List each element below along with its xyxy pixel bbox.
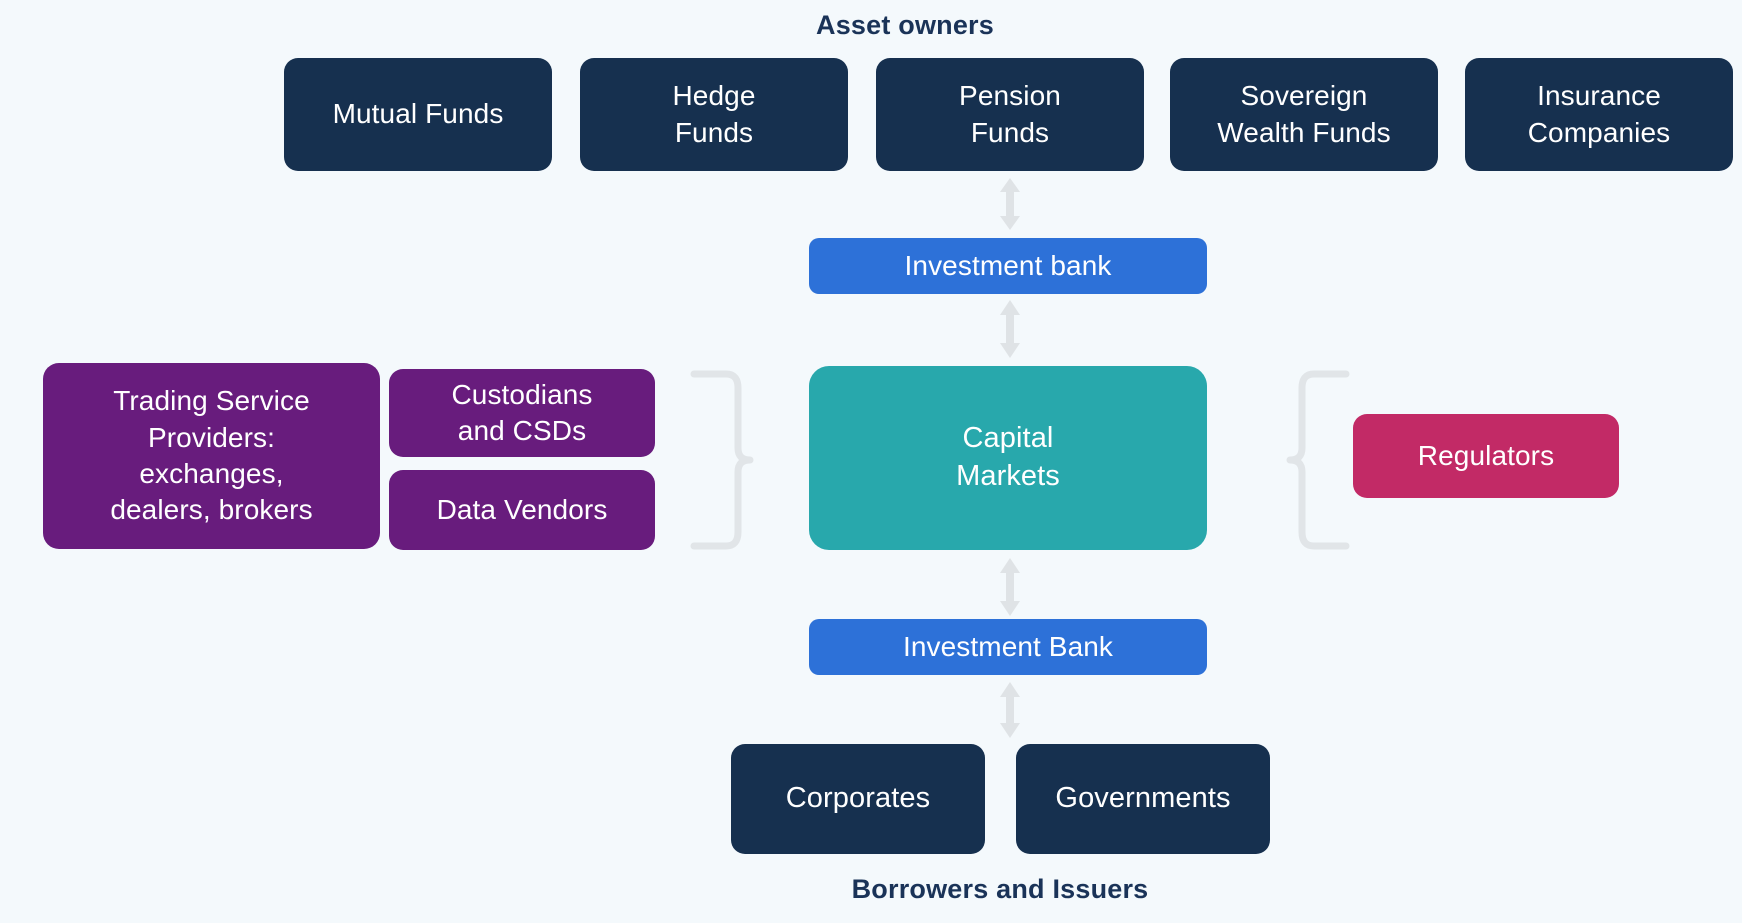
intermediary-investment-bank-bottom[interactable]: Investment Bank: [809, 619, 1207, 675]
brace-icon-service-providers: [688, 370, 768, 550]
asset-owner-sovereign-wealth-funds[interactable]: Sovereign Wealth Funds: [1170, 58, 1438, 171]
intermediary-investment-bank-top[interactable]: Investment bank: [809, 238, 1207, 294]
service-provider-data-vendors[interactable]: Data Vendors: [389, 470, 655, 550]
core-capital-markets[interactable]: Capital Markets: [809, 366, 1207, 550]
asset-owner-insurance-companies[interactable]: Insurance Companies: [1465, 58, 1733, 171]
page-title-borrowers-and-issuers: Borrowers and Issuers: [800, 874, 1200, 905]
borrower-governments[interactable]: Governments: [1016, 744, 1270, 854]
diagram-canvas: Asset owners Mutual Funds Hedge Funds Pe…: [0, 0, 1742, 923]
oversight-regulators[interactable]: Regulators: [1353, 414, 1619, 498]
service-provider-trading-service-providers[interactable]: Trading Service Providers: exchanges, de…: [43, 363, 380, 549]
service-provider-custodians-and-csds[interactable]: Custodians and CSDs: [389, 369, 655, 457]
borrower-corporates[interactable]: Corporates: [731, 744, 985, 854]
asset-owner-hedge-funds[interactable]: Hedge Funds: [580, 58, 848, 171]
double-arrow-icon-capitalmarkets-investmentbank: [993, 558, 1027, 616]
double-arrow-icon-investmentbank-capitalmarkets: [993, 300, 1027, 358]
brace-icon-regulators: [1272, 370, 1352, 550]
page-title-asset-owners: Asset owners: [705, 10, 1105, 41]
double-arrow-icon-assetowners-investmentbank: [993, 178, 1027, 230]
asset-owner-mutual-funds[interactable]: Mutual Funds: [284, 58, 552, 171]
asset-owner-pension-funds[interactable]: Pension Funds: [876, 58, 1144, 171]
double-arrow-icon-investmentbank-borrowers: [993, 682, 1027, 738]
